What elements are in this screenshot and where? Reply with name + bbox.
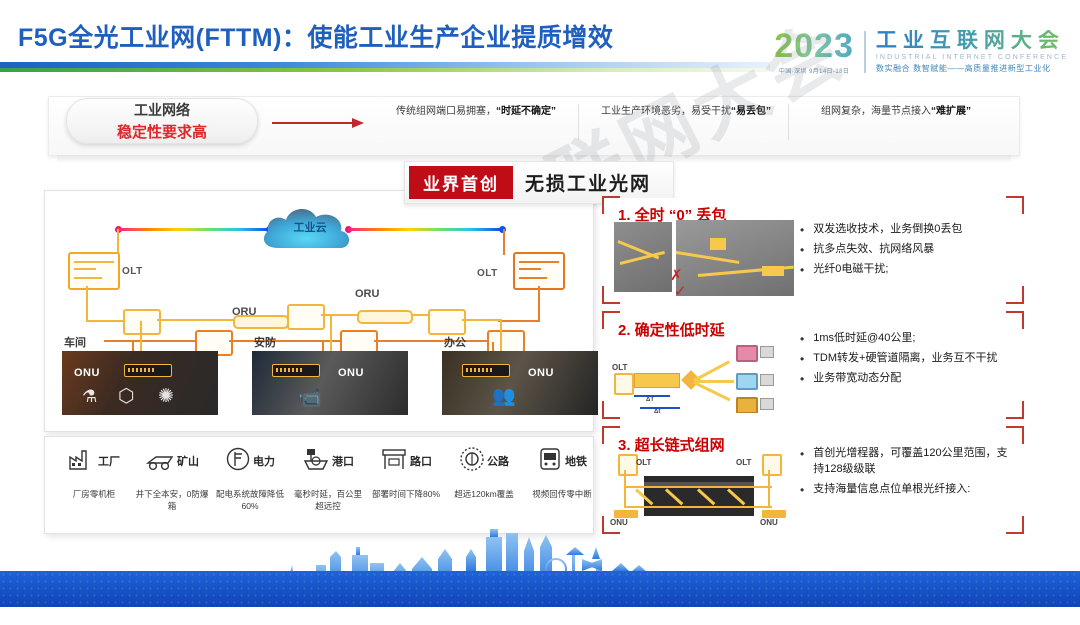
industry-name-mine: 矿山 <box>177 453 199 469</box>
cloud-label: 工业云 <box>282 219 338 235</box>
bullet-text: 业务带宽动态分配 <box>813 371 901 387</box>
olt-label-3-left: OLT <box>636 458 651 467</box>
bottom-blue-band <box>0 571 1080 607</box>
logo-text-block: 工业互联网大会 INDUSTRIAL INTERNET CONFERENCE 数… <box>876 30 1068 74</box>
industry-caption-factory: 厂房零机柜 <box>56 488 132 500</box>
olt-label-left: OLT <box>122 266 143 277</box>
industry-name-port: 港口 <box>332 453 354 469</box>
page-title: F5G全光工业网(FTTM)：使能工业生产企业提质增效 <box>18 18 718 54</box>
check-mark-icon: ✓ <box>674 282 687 300</box>
industry-name-highway: 公路 <box>487 453 509 469</box>
bullet-text: 双发选收技术，业务倒换0丢包 <box>813 222 962 238</box>
crossroad-icon <box>380 447 408 476</box>
onu-label-3-left: ONU <box>610 518 628 527</box>
onu-device-3 <box>462 364 510 377</box>
scene-label-security: 安防 <box>254 334 276 350</box>
logo-year: 2023 <box>774 29 854 63</box>
bullet-item: •双发选收技术，业务倒换0丢包 <box>800 222 1012 238</box>
pain-emph-2: “易丢包” <box>731 106 771 117</box>
onu-label-2: ONU <box>338 367 364 379</box>
industry-item-port: 港口 毫秒时延，百公里超远控 <box>290 444 366 513</box>
pain-point-3: 组网复杂，海量节点接入“难扩展” <box>798 104 994 120</box>
pain-text-1: 传统组网端口易拥塞， <box>396 106 496 117</box>
industry-caption-metro: 视频回传零中断 <box>524 488 600 500</box>
olt-device-left <box>68 252 120 290</box>
camera-icon: 📹 <box>298 386 322 410</box>
bullet-text: TDM转发+硬管道隔离，业务互不干扰 <box>813 351 997 367</box>
delta-t-label-2: Δt <box>654 409 660 413</box>
oru-node-1 <box>123 309 161 335</box>
skyline-decoration <box>0 529 1080 607</box>
bullet-item: •光纤0电磁干扰; <box>800 262 1012 278</box>
industry-caption-highway: 超远120km覆盖 <box>446 488 522 500</box>
industry-name-power: 电力 <box>253 453 275 469</box>
bullet-text: 1ms低时延@40公里; <box>813 331 915 347</box>
industry-item-crossroad: 路口 部署时间下降80% <box>368 444 444 500</box>
wire-right-trunk <box>498 320 540 322</box>
slide-root: F5G全光工业网(FTTM)：使能工业生产企业提质增效 2023 中国·深圳 9… <box>0 0 1080 607</box>
banner-badge: 业界首创 <box>409 166 513 199</box>
olt-label-3-right: OLT <box>736 458 751 467</box>
oru-label-1: ORU <box>232 306 256 318</box>
olt-label-right: OLT <box>477 268 498 279</box>
banner-text: 无损工业光网 <box>525 169 651 196</box>
pain-emph-3: “难扩展” <box>931 106 971 117</box>
highway-icon <box>459 447 485 476</box>
pain-text-2: 工业生产环境恶劣，易受干扰 <box>601 106 731 117</box>
onu-label-1: ONU <box>74 367 100 379</box>
scene-image-office <box>442 351 598 415</box>
industry-caption-mine: 井下全本安，0防爆箱 <box>134 488 210 513</box>
feature-art-2: OLT ΔT Δt <box>610 341 792 413</box>
logo-title-cn: 工业互联网大会 <box>876 30 1068 52</box>
onu-label-3: ONU <box>528 367 554 379</box>
feature-bullets-2: •1ms低时延@40公里; •TDM转发+硬管道隔离，业务互不干扰 •业务带宽动… <box>800 331 1012 392</box>
corner-tr-2 <box>1006 311 1024 329</box>
industry-item-power: 电力 配电系统故障降低60% <box>212 444 288 513</box>
metro-icon <box>537 447 563 476</box>
delta-t-label-1: ΔT <box>646 397 654 403</box>
feature-card-2: 2. 确定性低时延 OLT ΔT Δt •1ms低时延@40公里; •TDM转发… <box>604 313 1022 417</box>
onu-device-1 <box>124 364 172 377</box>
olt-device-right <box>513 252 565 290</box>
gear-icon: ✺ <box>158 385 174 408</box>
corner-tr-3 <box>1006 426 1024 444</box>
bullet-text: 支持海量信息点位单根光纤接入: <box>813 482 970 498</box>
port-crane-icon <box>302 447 330 476</box>
industry-caption-port: 毫秒时延，百公里超远控 <box>290 488 366 513</box>
corner-br-2 <box>1006 401 1024 419</box>
logo-divider <box>864 31 866 73</box>
feature-bullets-1: •双发选收技术，业务倒换0丢包 •抗多点失效、抗网络风暴 •光纤0电磁干扰; <box>800 222 1012 283</box>
feature-bullets-3: •首创光增程器，可覆盖120公里范围，支持128级级联 •支持海量信息点位单根光… <box>800 446 1012 502</box>
red-arrow-icon <box>272 118 368 128</box>
bullet-item: •业务带宽动态分配 <box>800 371 1012 387</box>
pain-divider-2 <box>788 104 789 140</box>
feature-card-3: 3. 超长链式组网 OLT OLT ONU ONU •首创光增程器，可覆盖120… <box>604 428 1022 532</box>
feature-title-2: 2. 确定性低时延 <box>618 319 725 340</box>
feature-card-1: 1. 全时 “0” 丢包 ✗ ✓ •双发选收技术，业务倒换0丢包 •抗多点失效、… <box>604 198 1022 302</box>
scene-label-workshop: 车间 <box>64 334 86 350</box>
wire-olt-left-down <box>86 286 88 322</box>
industry-name-metro: 地铁 <box>565 453 587 469</box>
feature-art-1b <box>676 220 794 296</box>
industry-item-highway: 公路 超远120km覆盖 <box>446 444 522 500</box>
header-rule-green <box>0 68 770 72</box>
industry-name-factory: 工厂 <box>98 453 120 469</box>
welding-icon: ⬡ <box>118 385 135 408</box>
corner-br-1 <box>1006 286 1024 304</box>
pain-point-2: 工业生产环境恶劣，易受干扰“易丢包” <box>588 104 784 120</box>
onu-device-2 <box>272 364 320 377</box>
pain-emph-1: “时延不确定” <box>496 106 556 117</box>
robot-arm-icon: ⚗ <box>82 387 97 407</box>
bullet-item: •TDM转发+硬管道隔离，业务互不干扰 <box>800 351 1012 367</box>
conference-logo: 2023 中国·深圳 9月14日-18日 工业互联网大会 INDUSTRIAL … <box>774 24 1068 80</box>
feature-art-3: OLT OLT ONU ONU <box>610 452 794 530</box>
wire-orange-1 <box>104 340 195 342</box>
pain-text-3: 组网复杂，海量节点接入 <box>821 106 931 117</box>
olt-mini-label-2: OLT <box>612 363 627 372</box>
pain-divider-1 <box>578 104 579 140</box>
industry-item-factory: 工厂 厂房零机柜 <box>56 444 132 500</box>
logo-year-block: 2023 中国·深圳 9月14日-18日 <box>774 29 854 75</box>
rainbow-link-left <box>118 228 268 231</box>
wire-left-trunk <box>86 320 128 322</box>
rainbow-link-right <box>348 228 500 231</box>
wire-orange-3 <box>374 340 487 342</box>
oru-node-2 <box>287 304 325 330</box>
bullet-text: 首创光增程器，可覆盖120公里范围，支持128级级联 <box>813 446 1012 478</box>
industry-caption-power: 配电系统故障降低60% <box>212 488 288 513</box>
bullet-item: •1ms低时延@40公里; <box>800 331 1012 347</box>
logo-title-en: INDUSTRIAL INTERNET CONFERENCE <box>876 54 1068 61</box>
power-icon <box>225 447 251 476</box>
logo-tagline: 数实融合 数智赋能——高质量推进新型工业化 <box>876 63 1068 74</box>
factory-icon <box>68 447 96 476</box>
pill-line-2: 稳定性要求高 <box>117 121 207 142</box>
oru-label-2: ORU <box>355 288 379 300</box>
wire-olt-right-down <box>538 286 540 322</box>
bullet-item: •首创光增程器，可覆盖120公里范围，支持128级级联 <box>800 446 1012 478</box>
oru-node-3 <box>428 309 466 335</box>
pain-point-1: 传统组网端口易拥塞，“时延不确定” <box>378 104 574 120</box>
bullet-text: 光纤0电磁干扰; <box>813 262 888 278</box>
industry-item-mine: 矿山 井下全本安，0防爆箱 <box>134 444 210 513</box>
oru-amplifier-2 <box>357 310 413 324</box>
bullet-item: •支持海量信息点位单根光纤接入: <box>800 482 1012 498</box>
industry-caption-crossroad: 部署时间下降80% <box>368 488 444 500</box>
onu-label-3-right: ONU <box>760 518 778 527</box>
bullet-item: •抗多点失效、抗网络风暴 <box>800 242 1012 258</box>
wire-oru-3-olt <box>462 319 502 321</box>
scene-label-office: 办公 <box>444 334 466 350</box>
logo-date: 中国·深圳 9月14日-18日 <box>779 66 849 75</box>
wire-olt-right-up <box>503 229 505 255</box>
network-requirement-pill: 工业网络 稳定性要求高 <box>66 98 258 144</box>
bullet-text: 抗多点失效、抗网络风暴 <box>813 242 934 258</box>
industry-name-crossroad: 路口 <box>410 453 432 469</box>
feature-art-1a <box>614 222 672 292</box>
industry-item-metro: 地铁 视频回传零中断 <box>524 444 600 500</box>
mine-truck-icon <box>145 447 175 476</box>
scene-image-security <box>252 351 408 415</box>
corner-tr-1 <box>1006 196 1024 214</box>
people-icon: 👥 <box>492 384 516 408</box>
pill-line-1: 工业网络 <box>134 100 190 120</box>
